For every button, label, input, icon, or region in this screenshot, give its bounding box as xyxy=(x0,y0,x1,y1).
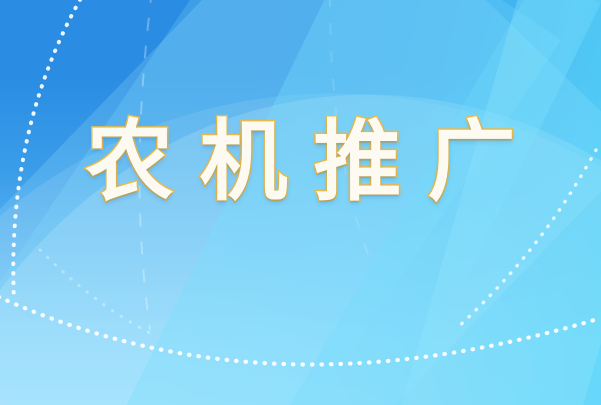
promo-banner: 农机推广 xyxy=(0,0,601,405)
